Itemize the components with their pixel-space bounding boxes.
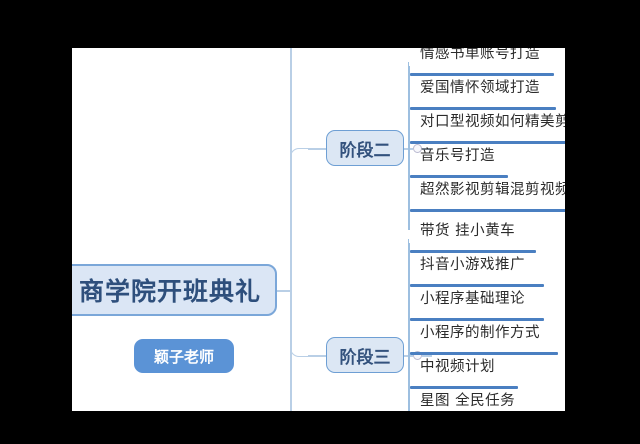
leaf-item[interactable]: 带货 挂小黄车 — [408, 219, 565, 253]
leaf-item[interactable]: 小程序基础理论 — [408, 287, 565, 321]
leaf-label: 中视频计划 — [420, 355, 495, 376]
stage-node-stage-three[interactable]: 阶段三 — [326, 337, 404, 373]
leaf-item[interactable]: 音乐号打造 — [408, 144, 565, 178]
screenshot-frame: 商学院开班典礼 颖子老师 阶段二 情感书单账号打造 爱国情怀领域打造 对口型视频… — [0, 0, 640, 444]
leaf-label: 爱国情怀领域打造 — [420, 76, 540, 97]
stage-node-label-stage-two: 阶段二 — [340, 136, 391, 161]
leaf-underline — [410, 209, 565, 212]
author-chip-label: 颖子老师 — [154, 346, 214, 367]
leaf-item[interactable]: 情感书单账号打造 — [408, 48, 565, 76]
leaf-item[interactable]: 小程序的制作方式 — [408, 321, 565, 355]
leaf-label: 抖音小游戏推广 — [420, 253, 525, 274]
author-chip[interactable]: 颖子老师 — [134, 339, 234, 373]
leaf-label: 小程序的制作方式 — [420, 321, 540, 342]
stage-node-stage-two[interactable]: 阶段二 — [326, 130, 404, 166]
leaf-item[interactable]: 爱国情怀领域打造 — [408, 76, 565, 110]
leaf-label: 带货 挂小黄车 — [420, 219, 515, 240]
connector-stage-three-stub — [308, 355, 326, 357]
connector-stage-two — [290, 148, 309, 267]
leaf-hook — [408, 409, 418, 411]
connector-stage-three — [290, 266, 309, 357]
center-topic-label: 商学院开班典礼 — [79, 272, 261, 308]
leaf-item[interactable]: 抖音小游戏推广 — [408, 253, 565, 287]
stage-node-label-stage-three: 阶段三 — [340, 343, 391, 368]
leaf-label: 情感书单账号打造 — [420, 48, 540, 63]
leaf-label: 星图 全民任务 — [420, 389, 515, 410]
leaf-label: 音乐号打造 — [420, 144, 495, 165]
leaf-item[interactable]: 星图 全民任务 — [408, 389, 565, 411]
leaf-label: 对口型视频如何精美剪 — [420, 110, 565, 131]
center-topic-connector — [277, 290, 291, 292]
center-topic-node[interactable]: 商学院开班典礼 — [72, 264, 277, 316]
connector-stage-two-stub — [308, 148, 326, 150]
leaf-label: 小程序基础理论 — [420, 287, 525, 308]
mindmap-canvas[interactable]: 商学院开班典礼 颖子老师 阶段二 情感书单账号打造 爱国情怀领域打造 对口型视频… — [72, 48, 565, 411]
leaf-item[interactable]: 中视频计划 — [408, 355, 565, 389]
leaf-item[interactable]: 超然影视剪辑混剪视频 — [408, 178, 565, 212]
leaf-label: 超然影视剪辑混剪视频 — [420, 178, 565, 199]
leaf-item[interactable]: 对口型视频如何精美剪 — [408, 110, 565, 144]
